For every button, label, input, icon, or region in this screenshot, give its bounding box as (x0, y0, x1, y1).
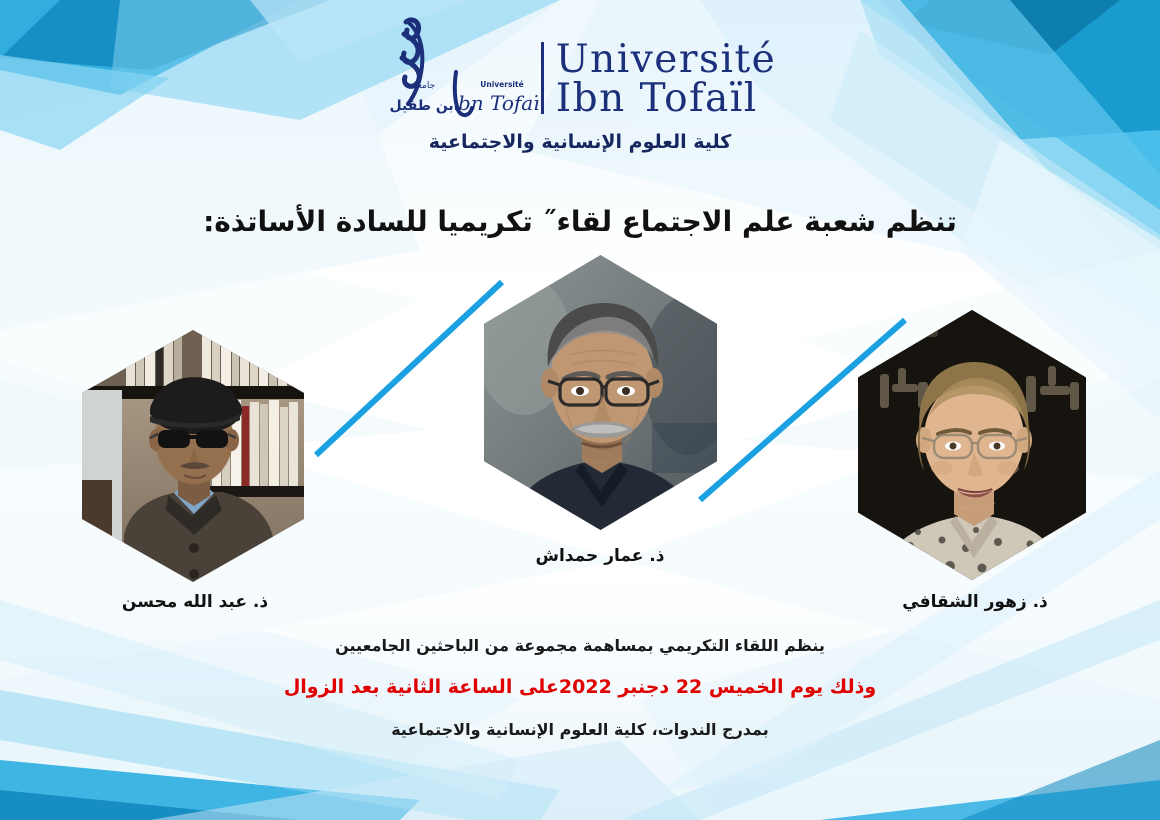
svg-text:Université: Université (480, 80, 523, 89)
ibn-tofail-calligraphy-logo: جامعة ابن طفيل Université bn Tofaïl (384, 14, 539, 122)
svg-text:جامعة: جامعة (413, 81, 435, 91)
logo-glyphs: جامعة ابن طفيل Université bn Tofaïl (384, 14, 539, 122)
svg-text:bn Tofaïl: bn Tofaïl (458, 91, 539, 115)
logo-line-ibn-tofail: Ibn Tofaïl (556, 79, 776, 118)
footer-line-venue: بمدرج الندوات، كلية العلوم الإنسانية وال… (0, 720, 1160, 739)
page-title: تنظم شعبة علم الاجتماع لقاء˝ تكريميا للس… (0, 205, 1160, 238)
caption-zohour-chakafi: ذ. زهور الشقافي (855, 592, 1095, 612)
svg-text:ابن طفيل: ابن طفيل (389, 98, 458, 114)
logo-line-universite: Université (556, 40, 776, 79)
footer-line-datetime: وذلك يوم الخميس 22 دجنبر 2022على الساعة … (0, 676, 1160, 698)
footer-line-organizers: ينظم اللقاء التكريمي بمساهمة مجموعة من ا… (0, 636, 1160, 655)
faculty-name: كلية العلوم الإنسانية والاجتماعية (0, 131, 1160, 153)
university-logo: جامعة ابن طفيل Université bn Tofaïl Univ… (0, 14, 1160, 122)
caption-ammar-hamdach: ذ. عمار حمداش (460, 546, 740, 566)
event-poster: جامعة ابن طفيل Université bn Tofaïl Univ… (0, 0, 1160, 820)
header: جامعة ابن طفيل Université bn Tofaïl Univ… (0, 14, 1160, 153)
connector-left (316, 282, 502, 455)
footer: ينظم اللقاء التكريمي بمساهمة مجموعة من ا… (0, 636, 1160, 739)
university-wordmark: Université Ibn Tofaïl (556, 40, 776, 122)
logo-divider (541, 42, 544, 114)
caption-abdellah-mohsen: ذ. عبد الله محسن (60, 592, 330, 612)
